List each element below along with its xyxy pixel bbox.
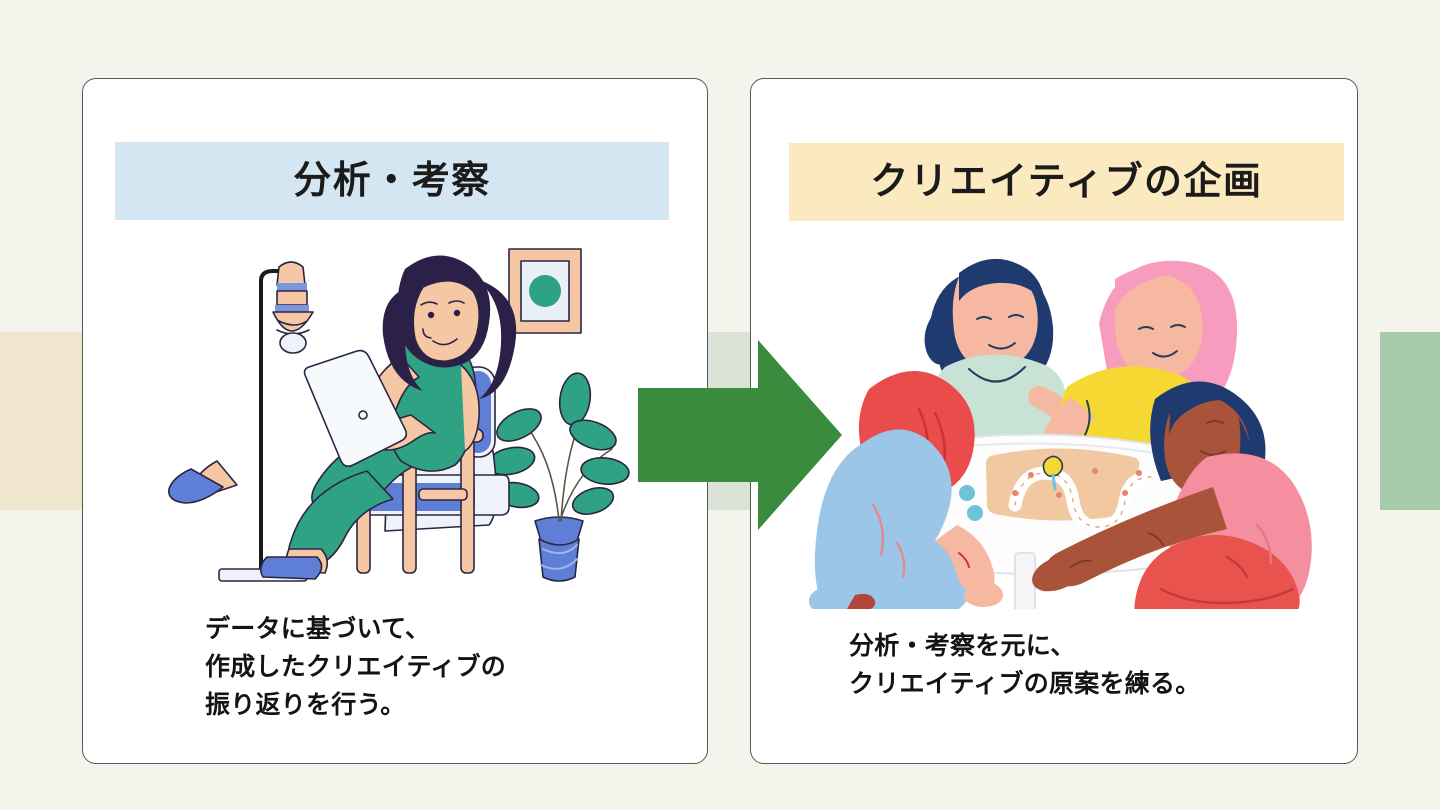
card-creative-planning-caption: 分析・考察を元に、 クリエイティブの原案を練る。 [849, 627, 1201, 703]
card-analysis-title: 分析・考察 [293, 162, 491, 200]
caption-line: クリエイティブの原案を練る。 [849, 670, 1201, 698]
caption-line: 分析・考察を元に、 [849, 632, 1076, 660]
card-analysis: 分析・考察 [82, 78, 708, 764]
team-brainstorm-table-svg [809, 237, 1329, 609]
card-analysis-header: 分析・考察 [115, 142, 669, 220]
slide-stage: 分析・考察 [0, 0, 1440, 810]
card-creative-planning-title: クリエイティブの企画 [870, 163, 1262, 201]
team-brainstorm-table-illustration [809, 237, 1329, 609]
caption-line: 振り返りを行う。 [205, 691, 406, 719]
caption-line: データに基づいて、 [205, 615, 430, 643]
woman-reading-tablet-svg [161, 239, 641, 595]
card-creative-planning-header: クリエイティブの企画 [789, 143, 1344, 221]
woman-reading-tablet-illustration [161, 239, 641, 595]
card-analysis-caption: データに基づいて、 作成したクリエイティブの 振り返りを行う。 [205, 610, 506, 724]
caption-line: 作成したクリエイティブの [205, 653, 506, 681]
arrow-right-icon [638, 336, 842, 534]
